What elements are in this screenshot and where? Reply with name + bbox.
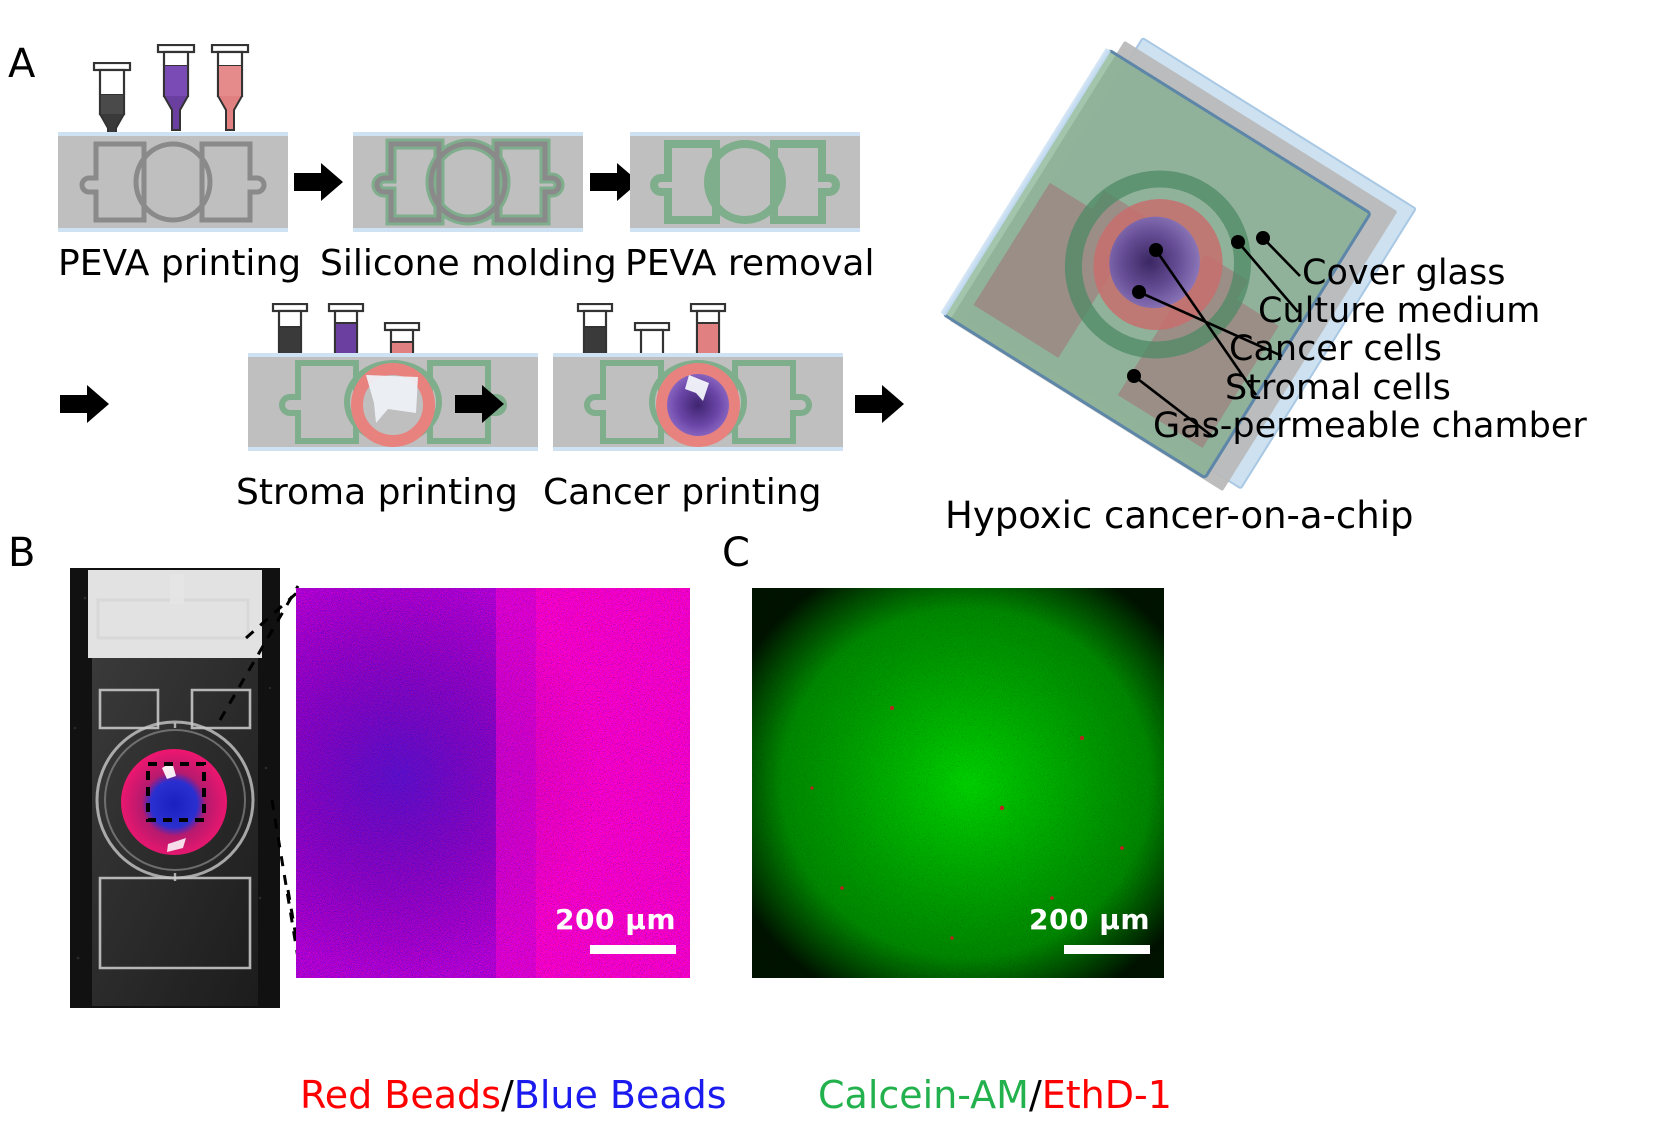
legend-calcein-am: Calcein-AM <box>818 1073 1029 1117</box>
scalebar-label-b: 200 µm <box>555 903 676 936</box>
fluorescence-image-livedead: 200 µm <box>752 588 1164 978</box>
fluorescence-image-beads: 200 µm <box>296 588 690 978</box>
legend-separator-c: / <box>1029 1073 1042 1117</box>
chip-caption: Hypoxic cancer-on-a-chip <box>945 494 1413 537</box>
legend-blue-beads: Blue Beads <box>514 1073 727 1117</box>
panel-letter-b: B <box>8 533 35 573</box>
legend-separator-b: / <box>501 1073 514 1117</box>
callout-label-gas-permeable-chamber: Gas-permeable chamber <box>1153 409 1587 444</box>
scalebar-label-c: 200 µm <box>1029 903 1150 936</box>
legend-red-beads: Red Beads <box>300 1073 501 1117</box>
panel-letter-c: C <box>722 533 750 573</box>
callout-label-cancer-cells: Cancer cells <box>1229 332 1442 367</box>
callout-label-cover-glass: Cover glass <box>1302 256 1505 291</box>
callout-label-stromal-cells: Stromal cells <box>1225 371 1451 406</box>
callout-label-culture-medium: Culture medium <box>1258 294 1540 329</box>
scalebar-line-c <box>1064 945 1150 954</box>
legend-panel-b: Red Beads/Blue Beads <box>300 1073 727 1117</box>
scalebar-line-b <box>590 945 676 954</box>
legend-panel-c: Calcein-AM/EthD-1 <box>818 1073 1172 1117</box>
legend-ethd1: EthD-1 <box>1042 1073 1172 1117</box>
